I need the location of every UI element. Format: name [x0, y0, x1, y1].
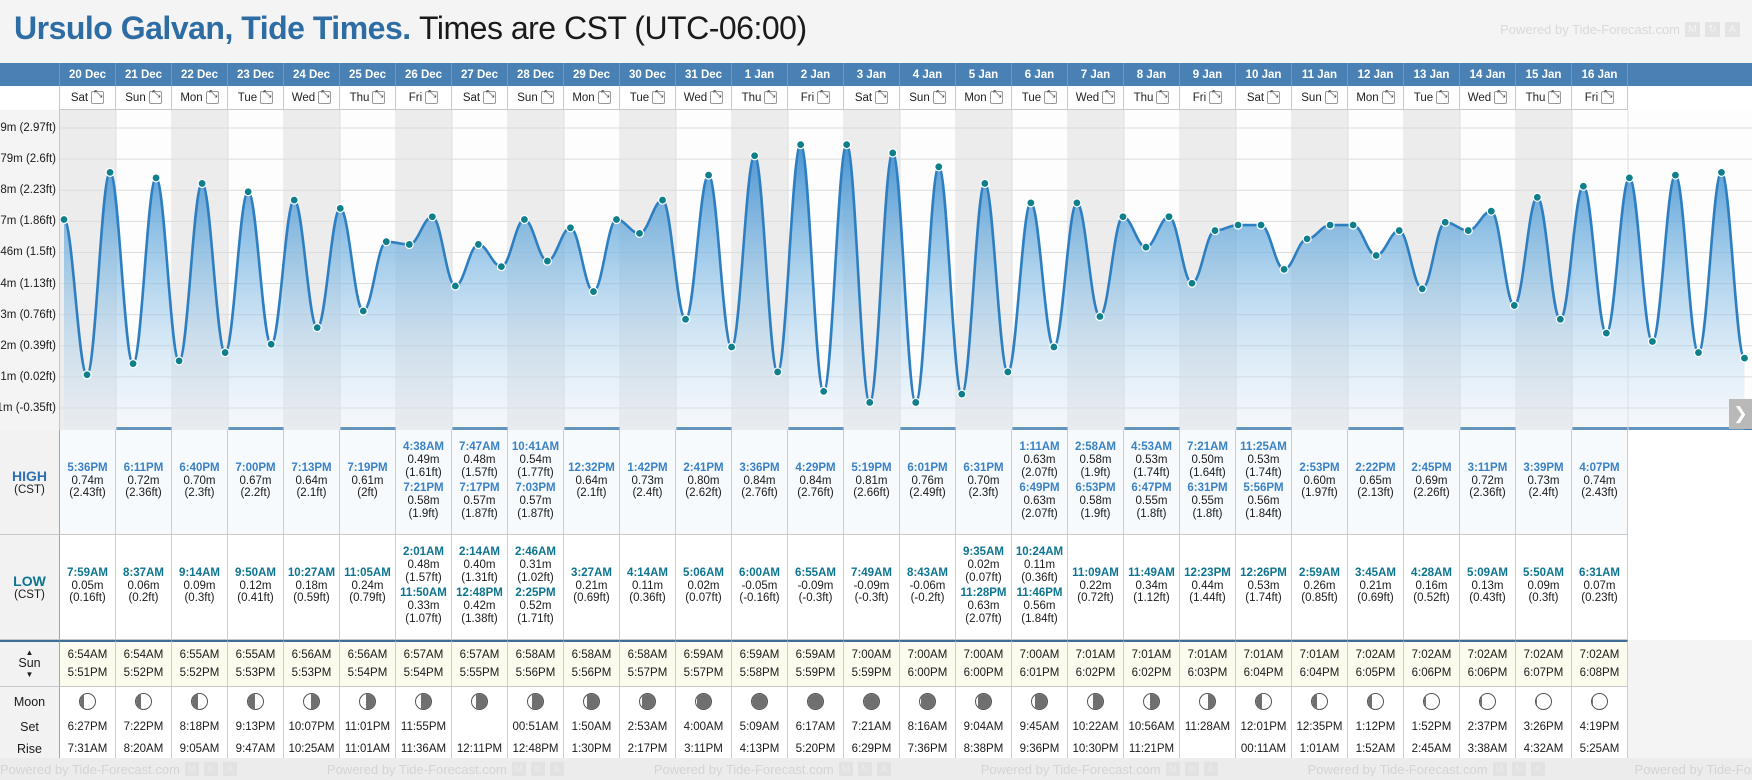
moon-set-cell: 3:26PM: [1516, 716, 1572, 738]
day-of-week-cell[interactable]: Thu: [732, 86, 788, 110]
tide-time: 9:50AM: [235, 567, 276, 580]
tide-time: 6:31PM: [1187, 482, 1227, 495]
expand-icon[interactable]: [1494, 91, 1507, 104]
low-tide-event: 6:55AM-0.09m(-0.3ft): [795, 567, 836, 606]
moon-phase-icon: [751, 693, 768, 710]
day-of-week-cell[interactable]: Thu: [1516, 86, 1572, 110]
tide-height-ft: (1.8ft): [1136, 508, 1166, 521]
date-header-cell[interactable]: 20 Dec: [60, 63, 116, 86]
low-tide-event: 9:14AM0.09m(0.3ft): [179, 567, 220, 606]
high-tide-event: 7:21AM0.50m(1.64ft): [1187, 441, 1228, 480]
low-tide-cell: 6:55AM-0.09m(-0.3ft): [788, 535, 844, 640]
sunrise-time: 6:58AM: [516, 646, 556, 664]
expand-icon[interactable]: [1267, 91, 1280, 104]
moon-rise-cell: 7:31AM: [60, 738, 116, 760]
chart-plot-area: [60, 110, 1752, 430]
tide-height-ft: (1.84ft): [1245, 508, 1281, 521]
high-tide-event: 10:41AM0.54m(1.77ft): [512, 441, 559, 480]
low-tide-cell: 9:50AM0.12m(0.41ft): [228, 535, 284, 640]
day-of-week-label: Sat: [71, 92, 88, 104]
expand-icon[interactable]: [260, 91, 273, 104]
day-of-week-cell[interactable]: Sun: [116, 86, 172, 110]
sun-cell: 6:58AM5:56PM: [564, 640, 620, 687]
low-tide-event: 5:50AM0.09m(0.3ft): [1523, 567, 1564, 606]
tide-height-ft: (2.4ft): [1528, 487, 1558, 500]
low-tide-row: LOW (CST) 7:59AM0.05m(0.16ft)8:37AM0.06m…: [0, 535, 1752, 640]
day-of-week-label: Sat: [1247, 92, 1264, 104]
tide-time: 6:47PM: [1131, 482, 1171, 495]
tide-height-ft: (2.07ft): [965, 613, 1001, 626]
expand-icon[interactable]: [875, 91, 888, 104]
date-header-cell[interactable]: 8 Jan: [1124, 63, 1180, 86]
expand-icon[interactable]: [817, 91, 830, 104]
sun-cell: 7:02AM6:06PM: [1460, 640, 1516, 687]
y-axis-tick-label: 0.23m (0.76ft): [0, 309, 56, 321]
tide-time: 2:45PM: [1411, 462, 1451, 475]
day-of-week-label: Tue: [1414, 92, 1433, 104]
expand-icon[interactable]: [933, 91, 946, 104]
tide-height-m: 0.48m: [464, 454, 496, 467]
day-of-week-cell[interactable]: Thu: [340, 86, 396, 110]
tide-time: 3:11PM: [1468, 462, 1508, 475]
tide-time: 11:50AM: [400, 587, 447, 600]
high-tide-cell: 7:13PM0.64m(2.1ft): [284, 430, 340, 535]
tide-time: 11:28PM: [960, 587, 1006, 600]
day-of-week-cell[interactable]: Fri: [1180, 86, 1236, 110]
high-tide-cell: 2:53PM0.60m(1.97ft): [1292, 430, 1348, 535]
date-header-cell[interactable]: 28 Dec: [508, 63, 564, 86]
sun-cell: 7:00AM6:00PM: [900, 640, 956, 687]
tide-time: 4:38AM: [403, 441, 444, 454]
moon-rise-cell: 10:25AM: [284, 738, 340, 760]
day-of-week-cell[interactable]: Tue: [1012, 86, 1068, 110]
tide-chart: 0.9m (2.97ft)0.79m (2.6ft)0.68m (2.23ft)…: [0, 110, 1752, 430]
moon-phase-icon: [807, 693, 824, 710]
low-tide-event: 2:01AM0.48m(1.57ft): [403, 546, 444, 585]
tide-height-ft: (2.62ft): [685, 487, 721, 500]
moon-cell: [788, 687, 844, 716]
expand-icon[interactable]: [764, 91, 777, 104]
date-header-cell[interactable]: 24 Dec: [284, 63, 340, 86]
date-header-cell[interactable]: 22 Dec: [172, 63, 228, 86]
tide-height-ft: (1.38ft): [461, 613, 497, 626]
tide-time: 4:28AM: [1411, 567, 1452, 580]
day-of-week-label: Wed: [684, 92, 707, 104]
low-tide-event: 10:24AM0.11m(0.36ft): [1016, 546, 1063, 585]
high-tide-cell: 1:42PM0.73m(2.4ft): [620, 430, 676, 535]
sunset-time: 5:52PM: [180, 664, 220, 682]
tide-time: 7:13PM: [291, 462, 331, 475]
tide-height-m: 0.22m: [1080, 580, 1112, 593]
day-of-week-label: Thu: [1134, 92, 1154, 104]
moon-rise-cell: 11:21PM: [1124, 738, 1180, 760]
date-header-cell[interactable]: 26 Dec: [396, 63, 452, 86]
tide-height-m: 0.61m: [352, 475, 384, 488]
sunrise-time: 7:02AM: [1524, 646, 1564, 664]
sunrise-time: 6:59AM: [740, 646, 780, 664]
expand-icon[interactable]: [1436, 91, 1449, 104]
footer-badge-2: ↻: [1185, 762, 1199, 776]
date-header-cell[interactable]: 6 Jan: [1012, 63, 1068, 86]
y-axis-tick-label: 0.34m (1.13ft): [0, 278, 56, 290]
low-tide-cell: 12:23PM0.44m(1.44ft): [1180, 535, 1236, 640]
expand-icon[interactable]: [91, 91, 104, 104]
sunrise-time: 7:00AM: [964, 646, 1004, 664]
sun-cell: 6:58AM5:56PM: [508, 640, 564, 687]
footer-watermark-text: Powered by Tide-Forecast.comM↻A: [654, 762, 891, 777]
sunrise-time: 6:56AM: [292, 646, 332, 664]
date-header-cell[interactable]: 16 Jan: [1572, 63, 1628, 86]
day-of-week-cell[interactable]: Sun: [900, 86, 956, 110]
date-header-cell[interactable]: 11 Jan: [1292, 63, 1348, 86]
high-tide-event: 6:53PM0.58m(1.9ft): [1075, 482, 1115, 521]
footer-watermark-text: Powered by Tide-Forecast.comM↻A: [1308, 762, 1545, 777]
high-tide-cell: 7:00PM0.67m(2.2ft): [228, 430, 284, 535]
tide-height-m: -0.09m: [798, 580, 834, 593]
date-header-cell[interactable]: 31 Dec: [676, 63, 732, 86]
tide-time: 2:53PM: [1299, 462, 1339, 475]
expand-icon[interactable]: [425, 91, 438, 104]
moon-phase-icon: [527, 693, 544, 710]
moon-phase-icon: [1143, 693, 1160, 710]
day-of-week-cell[interactable]: Fri: [1572, 86, 1628, 110]
moon-phase-icon: [191, 693, 208, 710]
moon-set-cell: 9:45AM: [1012, 716, 1068, 738]
date-header-cell[interactable]: 1 Jan: [732, 63, 788, 86]
day-of-week-cell[interactable]: Sat: [844, 86, 900, 110]
day-of-week-cell[interactable]: Mon: [564, 86, 620, 110]
moon-set-row: Set 6:27PM7:22PM8:18PM9:13PM10:07PM11:01…: [0, 716, 1752, 738]
low-tide-event: 7:49AM-0.09m(-0.3ft): [851, 567, 892, 606]
day-of-week-cell[interactable]: Mon: [956, 86, 1012, 110]
expand-icon[interactable]: [318, 91, 331, 104]
moon-set-cell: 11:28AM: [1180, 716, 1236, 738]
day-of-week-cell[interactable]: Sat: [1236, 86, 1292, 110]
high-tide-cell: 2:41PM0.80m(2.62ft): [676, 430, 732, 535]
high-tide-event: 6:01PM0.76m(2.49ft): [907, 462, 947, 501]
tide-time: 2:01AM: [403, 546, 444, 559]
sunset-time: 5:59PM: [796, 664, 836, 682]
low-tide-event: 8:43AM-0.06m(-0.2ft): [907, 567, 948, 606]
day-of-week-cell[interactable]: Sun: [1292, 86, 1348, 110]
tide-height-ft: (2.3ft): [968, 487, 998, 500]
sunrise-time: 7:01AM: [1076, 646, 1116, 664]
tide-height-ft: (2.66ft): [853, 487, 889, 500]
expand-icon[interactable]: [483, 91, 496, 104]
day-of-week-cell[interactable]: Wed: [676, 86, 732, 110]
sun-cell: 6:57AM5:55PM: [452, 640, 508, 687]
footer-badge-2: ↻: [1512, 762, 1526, 776]
moon-rise-cell: 11:36AM: [396, 738, 452, 760]
tide-height-m: 0.55m: [1192, 495, 1224, 508]
sun-cell: 7:01AM6:04PM: [1292, 640, 1348, 687]
tide-height-m: 0.53m: [1248, 454, 1280, 467]
tide-height-m: 0.06m: [128, 580, 160, 593]
low-tide-cell: 2:14AM0.40m(1.31ft)12:48PM0.42m(1.38ft): [452, 535, 508, 640]
low-tide-cell: 6:00AM-0.05m(-0.16ft): [732, 535, 788, 640]
moon-phase-icon: [695, 693, 712, 710]
footer-badge-3: A: [1204, 762, 1218, 776]
moon-set-cell: 4:19PM: [1572, 716, 1628, 738]
tide-height-m: 0.09m: [1528, 580, 1560, 593]
moon-rise-cell: 6:29PM: [844, 738, 900, 760]
expand-icon[interactable]: [1382, 91, 1395, 104]
expand-icon[interactable]: [990, 91, 1003, 104]
day-of-week-cell[interactable]: Tue: [620, 86, 676, 110]
moon-cell: [1180, 687, 1236, 716]
moon-cell: [1348, 687, 1404, 716]
high-tide-label-tz: (CST): [14, 484, 45, 496]
date-header-cell[interactable]: 10 Jan: [1236, 63, 1292, 86]
tide-time: 5:09AM: [1467, 567, 1508, 580]
moon-cell: [1516, 687, 1572, 716]
low-tide-event: 11:05AM0.24m(0.79ft): [344, 567, 391, 606]
date-header-cell[interactable]: 15 Jan: [1516, 63, 1572, 86]
moon-rise-cell: 3:38AM: [1460, 738, 1516, 760]
low-tide-cell: 10:24AM0.11m(0.36ft)11:46PM0.56m(1.84ft): [1012, 535, 1068, 640]
tide-height-m: 0.26m: [1304, 580, 1336, 593]
date-header-cell[interactable]: 14 Jan: [1460, 63, 1516, 86]
sunset-time: 5:55PM: [460, 664, 500, 682]
tide-time: 11:46PM: [1016, 587, 1062, 600]
moon-set-cell: 6:27PM: [60, 716, 116, 738]
high-tide-cell: 6:11PM0.72m(2.36ft): [116, 430, 172, 535]
tide-height-m: -0.09m: [854, 580, 890, 593]
moon-set-cell: 11:55PM: [396, 716, 452, 738]
high-tide-event: 4:29PM0.84m(2.76ft): [795, 462, 835, 501]
tide-height-ft: (-0.2ft): [911, 592, 945, 605]
sunset-time: 5:52PM: [124, 664, 164, 682]
day-of-week-cell[interactable]: Mon: [1348, 86, 1404, 110]
tide-time: 12:26PM: [1240, 567, 1287, 580]
date-header-cell[interactable]: 2 Jan: [788, 63, 844, 86]
tide-forecast-page: Ursulo Galvan, Tide Times. Times are CST…: [0, 0, 1752, 780]
expand-icon[interactable]: [1548, 91, 1561, 104]
tide-height-m: 0.48m: [408, 559, 440, 572]
date-header-cell[interactable]: 3 Jan: [844, 63, 900, 86]
sun-cell: 6:59AM5:58PM: [732, 640, 788, 687]
date-header-cell[interactable]: 29 Dec: [564, 63, 620, 86]
tide-height-ft: (-0.3ft): [799, 592, 833, 605]
moon-set-cell: 00:51AM: [508, 716, 564, 738]
high-tide-event: 3:36PM0.84m(2.76ft): [739, 462, 779, 501]
tide-height-m: 0.73m: [632, 475, 664, 488]
date-header-cell[interactable]: 4 Jan: [900, 63, 956, 86]
tide-height-ft: (1.8ft): [1192, 508, 1222, 521]
tide-height-ft: (1.87ft): [517, 508, 553, 521]
page-title-timezone: Times are CST (UTC-06:00): [419, 10, 807, 46]
tide-height-m: 0.07m: [1584, 580, 1616, 593]
date-header-cell[interactable]: 9 Jan: [1180, 63, 1236, 86]
sun-cell: 6:55AM5:52PM: [172, 640, 228, 687]
y-axis-tick-label: 0.9m (2.97ft): [0, 122, 56, 134]
low-tide-cell: 9:35AM0.02m(0.07ft)11:28PM0.63m(2.07ft): [956, 535, 1012, 640]
low-tide-cell: 9:14AM0.09m(0.3ft): [172, 535, 228, 640]
day-of-week-cell[interactable]: Sun: [508, 86, 564, 110]
tide-time: 10:24AM: [1016, 546, 1063, 559]
footer-badge-1: M: [185, 762, 199, 776]
expand-icon[interactable]: [1044, 91, 1057, 104]
low-tide-event: 6:00AM-0.05m(-0.16ft): [739, 567, 780, 606]
date-header-cell[interactable]: 21 Dec: [116, 63, 172, 86]
tide-time: 2:14AM: [459, 546, 500, 559]
date-header-cell[interactable]: 27 Dec: [452, 63, 508, 86]
low-tide-event: 11:28PM0.63m(2.07ft): [960, 587, 1006, 626]
tide-height-ft: (1.57ft): [461, 467, 497, 480]
expand-icon[interactable]: [1209, 91, 1222, 104]
date-header-cell[interactable]: 12 Jan: [1348, 63, 1404, 86]
tide-height-ft: (2.43ft): [69, 487, 105, 500]
high-tide-cell: 6:40PM0.70m(2.3ft): [172, 430, 228, 535]
high-tide-cell: 4:53AM0.53m(1.74ft)6:47PM0.55m(1.8ft): [1124, 430, 1180, 535]
tide-time: 6:31AM: [1579, 567, 1620, 580]
high-tide-event: 11:25AM0.53m(1.74ft): [1240, 441, 1287, 480]
day-of-week-label: Sat: [855, 92, 872, 104]
expand-icon[interactable]: [652, 91, 665, 104]
footer-badge-1: M: [512, 762, 526, 776]
moon-phase-icon: [1255, 693, 1272, 710]
expand-icon[interactable]: [598, 91, 611, 104]
footer-badge-2: ↻: [531, 762, 545, 776]
low-tide-label: LOW (CST): [0, 535, 60, 640]
date-header-cell[interactable]: 7 Jan: [1068, 63, 1124, 86]
moon-cell: [228, 687, 284, 716]
date-header-cell[interactable]: 5 Jan: [956, 63, 1012, 86]
sunrise-time: 7:02AM: [1468, 646, 1508, 664]
tide-time: 2:59AM: [1299, 567, 1340, 580]
page-title-location: Ursulo Galvan, Tide Times.: [14, 10, 411, 46]
tide-time: 4:14AM: [627, 567, 668, 580]
expand-icon[interactable]: [1102, 91, 1115, 104]
tide-height-ft: (1.74ft): [1133, 467, 1169, 480]
low-tide-event: 12:48PM0.42m(1.38ft): [456, 587, 503, 626]
sun-cell: 7:01AM6:02PM: [1068, 640, 1124, 687]
moon-rise-cell: 1:52AM: [1348, 738, 1404, 760]
low-tide-cell: 3:27AM0.21m(0.69ft): [564, 535, 620, 640]
day-of-week-cell[interactable]: Fri: [396, 86, 452, 110]
day-of-week-cell[interactable]: Sat: [452, 86, 508, 110]
tide-time: 6:01PM: [907, 462, 947, 475]
sunset-time: 6:06PM: [1468, 664, 1508, 682]
day-of-week-cell[interactable]: Sat: [60, 86, 116, 110]
expand-icon[interactable]: [710, 91, 723, 104]
day-of-week-cell[interactable]: Mon: [172, 86, 228, 110]
day-of-week-cell[interactable]: Wed: [284, 86, 340, 110]
moon-phase-icon: [975, 693, 992, 710]
tide-height-ft: (0.07ft): [965, 572, 1001, 585]
date-header-cell[interactable]: 30 Dec: [620, 63, 676, 86]
tide-time: 2:25PM: [515, 587, 555, 600]
date-header-cell[interactable]: 25 Dec: [340, 63, 396, 86]
moon-rise-cell: 5:25AM: [1572, 738, 1628, 760]
low-tide-event: 2:46AM0.31m(1.02ft): [515, 546, 556, 585]
day-of-week-cell[interactable]: Thu: [1124, 86, 1180, 110]
date-header-cell[interactable]: 23 Dec: [228, 63, 284, 86]
high-tide-cell: 10:41AM0.54m(1.77ft)7:03PM0.57m(1.87ft): [508, 430, 564, 535]
day-of-week-cell[interactable]: Fri: [788, 86, 844, 110]
tide-height-ft: (1.61ft): [405, 467, 441, 480]
low-tide-event: 12:26PM0.53m(1.74ft): [1240, 567, 1287, 606]
moon-phase-icon: [135, 693, 152, 710]
high-tide-event: 2:58AM0.58m(1.9ft): [1075, 441, 1116, 480]
high-tide-event: 7:03PM0.57m(1.87ft): [515, 482, 555, 521]
tide-height-ft: (2.36ft): [125, 487, 161, 500]
tide-height-m: 0.05m: [72, 580, 104, 593]
low-tide-cell: 4:28AM0.16m(0.52ft): [1404, 535, 1460, 640]
high-tide-cell: 7:21AM0.50m(1.64ft)6:31PM0.55m(1.8ft): [1180, 430, 1236, 535]
low-tide-cell: 7:49AM-0.09m(-0.3ft): [844, 535, 900, 640]
moon-phase-icon: [863, 693, 880, 710]
expand-icon[interactable]: [1156, 91, 1169, 104]
sunset-time: 6:02PM: [1132, 664, 1172, 682]
high-tide-cell: 5:36PM0.74m(2.43ft): [60, 430, 116, 535]
high-tide-event: 2:41PM0.80m(2.62ft): [683, 462, 723, 501]
tide-time: 6:53PM: [1075, 482, 1115, 495]
moon-cell: [1068, 687, 1124, 716]
expand-icon[interactable]: [206, 91, 219, 104]
sunrise-time: 7:01AM: [1188, 646, 1228, 664]
tide-time: 4:53AM: [1131, 441, 1172, 454]
sun-cell: 6:54AM5:51PM: [60, 640, 116, 687]
day-of-week-cell[interactable]: Tue: [228, 86, 284, 110]
expand-icon[interactable]: [1325, 91, 1338, 104]
high-tide-event: 6:11PM0.72m(2.36ft): [124, 462, 164, 501]
dow-spacer: [0, 86, 60, 110]
day-of-week-cell[interactable]: Tue: [1404, 86, 1460, 110]
expand-icon[interactable]: [372, 91, 385, 104]
low-tide-cell: 2:59AM0.26m(0.85ft): [1292, 535, 1348, 640]
high-tide-cell: 7:19PM0.61m(2ft): [340, 430, 396, 535]
date-header-cell[interactable]: 13 Jan: [1404, 63, 1460, 86]
high-tide-event: 3:39PM0.73m(2.4ft): [1523, 462, 1563, 501]
expand-icon[interactable]: [1601, 91, 1614, 104]
high-tide-cell: 3:11PM0.72m(2.36ft): [1460, 430, 1516, 535]
next-page-arrow[interactable]: ❯: [1729, 399, 1752, 429]
day-of-week-cell[interactable]: Wed: [1068, 86, 1124, 110]
sun-cell: 6:54AM5:52PM: [116, 640, 172, 687]
tide-height-ft: (1.57ft): [405, 572, 441, 585]
tide-time: 3:27AM: [571, 567, 612, 580]
high-tide-label: HIGH (CST): [0, 430, 60, 535]
low-tide-cell: 11:49AM0.34m(1.12ft): [1124, 535, 1180, 640]
moon-cell: [1404, 687, 1460, 716]
sunrise-time: 6:55AM: [180, 646, 220, 664]
moon-rise-cell: 1:30PM: [564, 738, 620, 760]
sun-row: ▲ Sun ▼ 6:54AM5:51PM6:54AM5:52PM6:55AM5:…: [0, 640, 1752, 687]
tide-height-ft: (0.79ft): [349, 592, 385, 605]
moon-phase-icon: [1031, 693, 1048, 710]
expand-icon[interactable]: [541, 91, 554, 104]
moon-cell: [676, 687, 732, 716]
sunrise-time: 7:02AM: [1580, 646, 1620, 664]
high-tide-event: 12:32PM0.64m(2.1ft): [568, 462, 615, 501]
footer-badge-1: M: [1493, 762, 1507, 776]
moon-cell: [844, 687, 900, 716]
low-tide-event: 11:49AM0.34m(1.12ft): [1128, 567, 1175, 606]
tide-time: 4:29PM: [795, 462, 835, 475]
high-tide-event: 2:22PM0.65m(2.13ft): [1355, 462, 1395, 501]
tide-height-ft: (2.76ft): [741, 487, 777, 500]
day-of-week-cell[interactable]: Wed: [1460, 86, 1516, 110]
tide-height-ft: (0.85ft): [1301, 592, 1337, 605]
low-tide-cell: 2:46AM0.31m(1.02ft)2:25PM0.52m(1.71ft): [508, 535, 564, 640]
tide-time: 6:40PM: [179, 462, 219, 475]
moon-phase-row: Moon: [0, 687, 1752, 716]
expand-icon[interactable]: [149, 91, 162, 104]
sunset-time: 5:57PM: [684, 664, 724, 682]
tide-time: 6:31PM: [963, 462, 1003, 475]
sunrise-time: 6:56AM: [348, 646, 388, 664]
